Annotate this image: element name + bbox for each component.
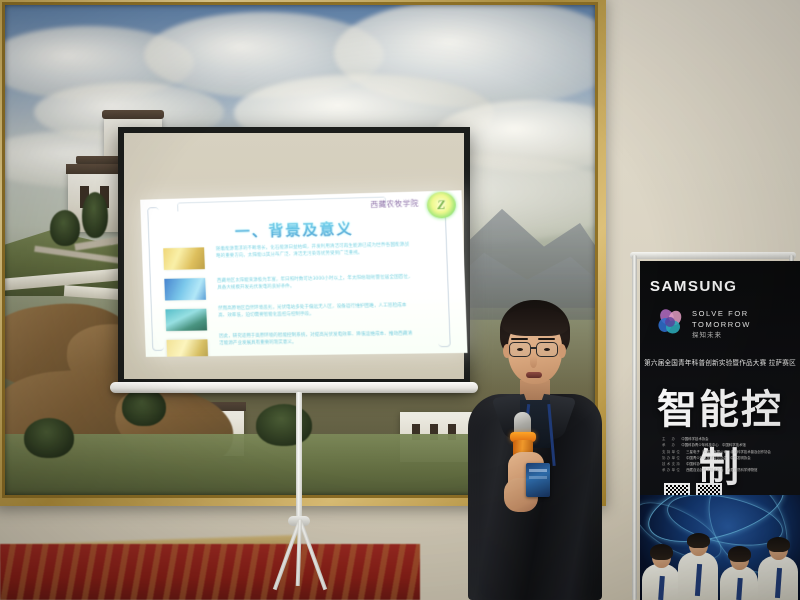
slide-thumbnail-column [163,247,208,357]
slide-left-decoration [147,207,164,351]
speaker-eye-right [544,348,550,351]
slide-paragraph-2: 西藏地区太阳能资源极为丰富，年日照时数可达3000小时以上，年太阳总辐射量位居全… [217,275,414,293]
speaker-nose [530,356,537,368]
credit-row: 承办单位 西藏自治区科学技术协会 西藏自然科学博物馆 [662,467,782,473]
school-emblem-letter: Z [437,197,446,213]
participant-badge [526,463,550,497]
slide-school-name: 西藏农牧学院 [370,198,419,210]
sft-chinese-tagline: 探知未来 [692,329,722,339]
screen-roller-housing [110,382,478,393]
speaker-mouth [526,372,542,378]
tripod-center-pole [296,392,302,525]
banner-student-4-hair [767,537,790,552]
samsung-rollup-banner: SAMSUNG SOLVE FOR TOMORROW 探知未来 第六届全国青年科… [640,261,800,600]
speaker-hair-fringe [502,308,568,336]
speaker-ear-right [558,344,566,358]
speaker-person [458,300,608,600]
sunset-field-thumb [163,247,205,270]
glasses-bridge [531,347,537,349]
banner-stand-pole-left [632,255,637,600]
slide-right-decoration [433,199,451,347]
solar-panel-thumb [164,278,206,301]
solve-for-tomorrow-flower-icon [656,307,686,337]
slide-title: 一、背景及意义 [235,218,354,242]
banner-student-2-hair [687,533,710,548]
screen-surface: 西藏农牧学院 Z 一、背景及意义 随着能源需求的不断增长，化石能源日益枯竭，开发… [124,133,464,379]
conference-room-scene: 西藏农牧学院 Z 一、背景及意义 随着能源需求的不断增长，化石能源日益枯竭，开发… [0,0,800,600]
wheat-field-thumb [167,339,209,357]
projected-slide: 西藏农牧学院 Z 一、背景及意义 随着能源需求的不断增长，化石能源日益枯竭，开发… [140,190,467,357]
slide-paragraph-3: 然而高原地区自然环境恶劣，光伏电站多处于偏远无人区，设备运行维护困难，人工巡检成… [218,303,415,320]
slide-paragraph-4: 因此，研究适用于高原环境的智能控制系统，对提高光伏发电效率、降低运维成本、推动西… [219,331,416,348]
banner-student-1-hair [650,544,673,560]
projector-screen: 西藏农牧学院 Z 一、背景及意义 随着能源需求的不断增长，化石能源日益枯竭，开发… [118,127,470,389]
banner-top-rail [630,252,796,259]
banner-tech-graphic [640,495,800,600]
red-carpet [0,544,420,600]
credit-value: 西藏自治区科学技术协会 西藏自然科学博物馆 [686,467,757,473]
speaker-eye-left [517,348,523,351]
slide-paragraph-1: 随着能源需求的不断增长，化石能源日益枯竭，开发利用清洁可再生能源已成为世界各国能… [216,242,413,260]
banner-credits-block: 主 办 中国科学技术协会 承 办 中国科协青少年科技中心 中国科学技术馆 支持单… [662,436,782,474]
samsung-logo-text: SAMSUNG [650,279,737,295]
school-emblem-icon: Z [427,191,457,218]
slide-ribbon-decoration [177,197,386,212]
sft-line-1: SOLVE FOR [692,309,751,320]
banner-student-3-hair [728,546,751,562]
credit-key: 承办单位 [662,467,681,473]
solve-for-tomorrow-text: SOLVE FOR TOMORROW [692,309,751,331]
banner-main-title: 智能控制 [640,377,800,493]
competition-subtitle: 第六届全国青年科普创新实验暨作品大赛 拉萨赛区 [640,357,800,367]
lake-valley-thumb [165,309,207,331]
